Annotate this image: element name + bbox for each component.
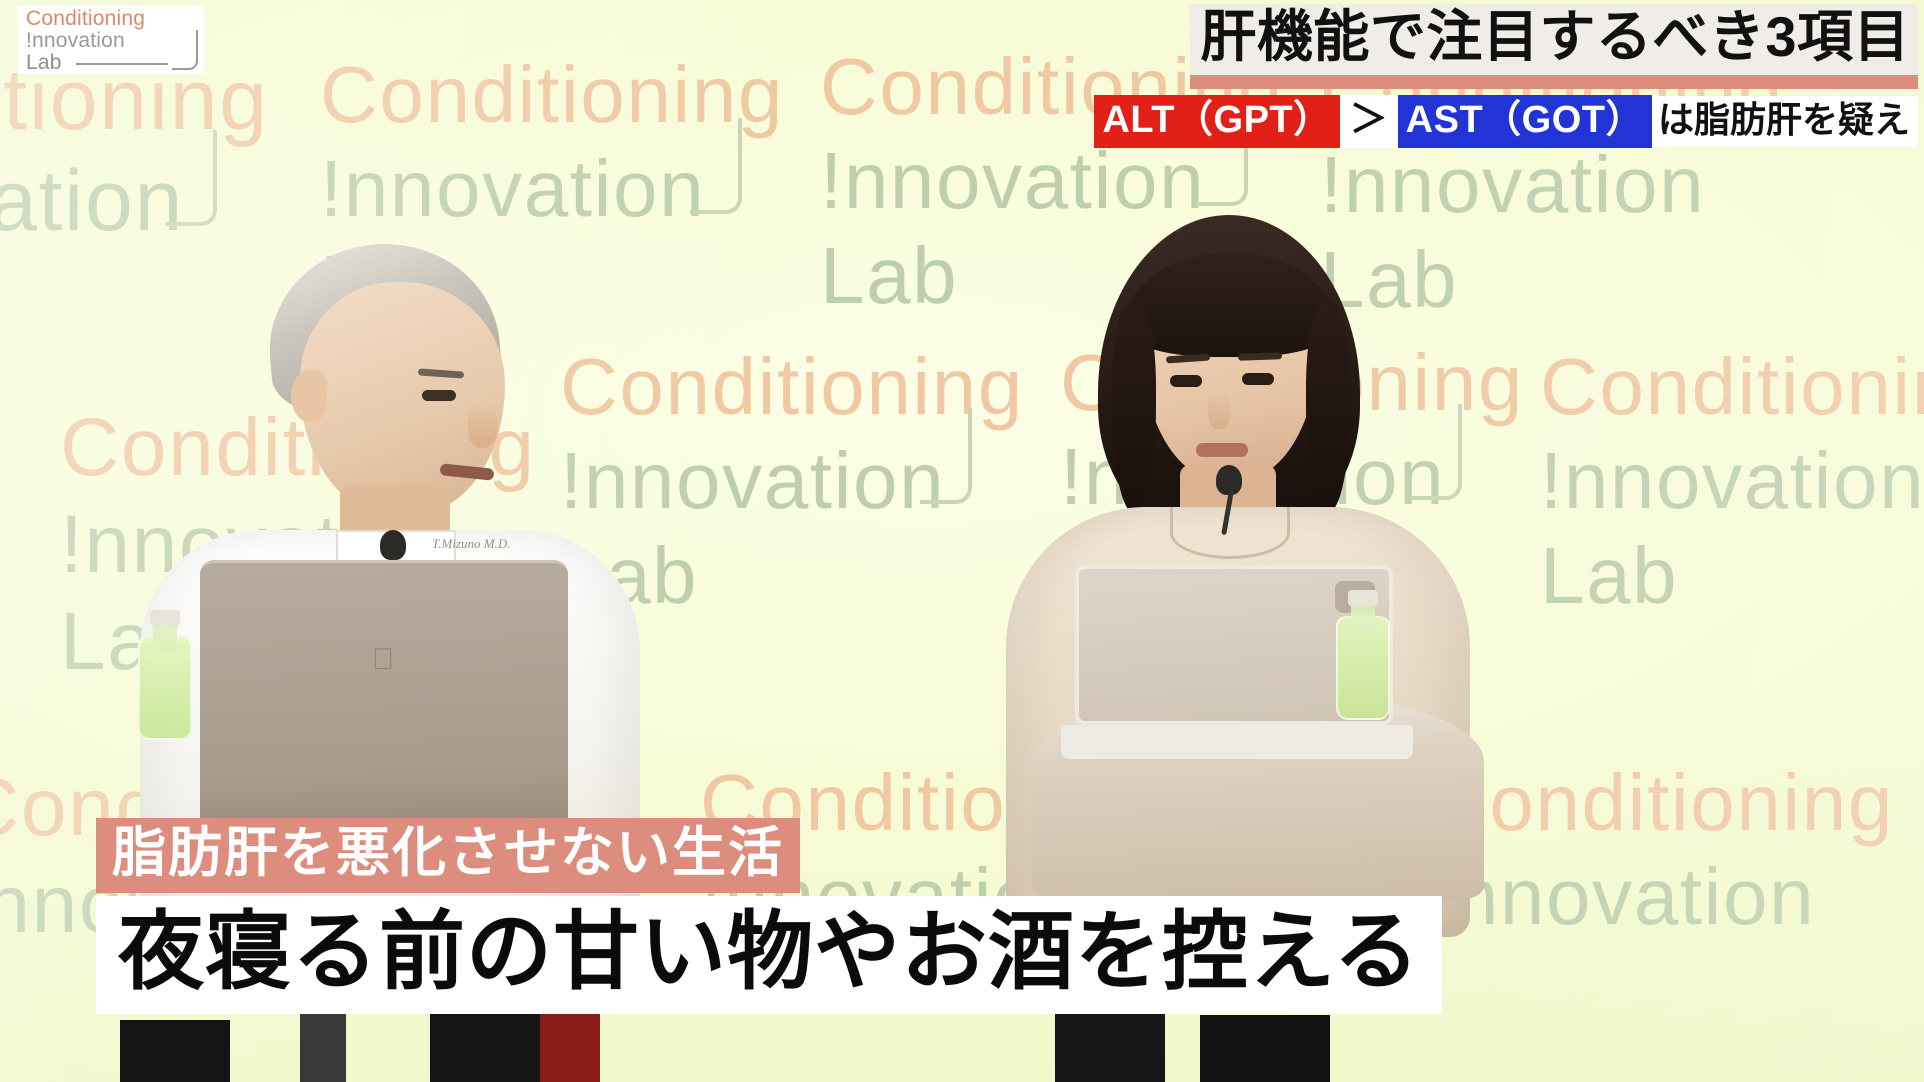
alt-chip: ALT（GPT） (1094, 95, 1339, 148)
apple-logo-icon:  (368, 645, 398, 679)
greater-than-operator: ＞ (1340, 95, 1398, 148)
mouth (1196, 443, 1248, 457)
nose (1208, 389, 1230, 429)
coat-name-embroidery: T.Mizuno M.D. (432, 536, 524, 554)
hair-sidelock (1112, 303, 1156, 513)
wall-watermark: Conditioning !nnovation Lab (1540, 340, 1924, 623)
ast-chip: AST（GOT） (1398, 95, 1652, 148)
wall-watermark-hook (920, 408, 972, 504)
bottle-cap (1348, 590, 1378, 606)
subheadline-row: ALT（GPT） ＞ AST（GOT） は脂肪肝を疑え (872, 95, 1918, 148)
eye (422, 390, 456, 401)
lavalier-mic-icon (380, 530, 406, 560)
channel-logo: Conditioning !nnovation Lab (18, 6, 204, 74)
water-bottle-right (1336, 590, 1390, 720)
video-frame: Conditioning !nnovation Lab Conditioning… (0, 0, 1924, 1082)
logo-hook-icon (172, 30, 198, 70)
logo-line-conditioning: Conditioning (26, 8, 198, 30)
chair-base (120, 1020, 230, 1082)
subheadline-tail: は脂肪肝を疑え (1652, 96, 1918, 147)
neckline (1170, 507, 1290, 559)
wall-watermark-line1: Conditioning (1540, 340, 1924, 434)
title-block: 肝機能で注目するべき3項目 ALT（GPT） ＞ AST（GOT） は脂肪肝を疑… (872, 4, 1918, 148)
chair-seat (540, 1005, 600, 1082)
eye (1170, 375, 1202, 387)
lavalier-mic-icon (1216, 465, 1242, 495)
nose (468, 402, 498, 448)
chair-base (1200, 1015, 1330, 1082)
headline-banner: 肝機能で注目するべき3項目 (1190, 4, 1918, 89)
wall-watermark-hook (690, 118, 742, 214)
wall-watermark: Conditioning !nnovation (1430, 756, 1894, 945)
hair-sidelock (1306, 303, 1350, 513)
wall-watermark-line1: Conditioning (1430, 756, 1894, 850)
face (300, 282, 505, 514)
wall-watermark-line2: !nnovation (1540, 434, 1924, 528)
tablet-keyboard (1061, 725, 1413, 759)
ear (291, 370, 327, 422)
wall-watermark-hook (165, 130, 217, 226)
wall-watermark-line3: Lab (1540, 529, 1924, 623)
water-bottle-left (138, 610, 192, 740)
caption-kicker: 脂肪肝を悪化させない生活 (96, 818, 800, 893)
eye (1242, 373, 1274, 385)
laptop:  (200, 560, 568, 860)
logo-underline (76, 63, 168, 65)
wall-watermark-line2: !nnovation (1430, 850, 1894, 944)
caption-main: 夜寝る前の甘い物やお酒を控える (96, 896, 1442, 1014)
bottle-cap (150, 610, 180, 626)
